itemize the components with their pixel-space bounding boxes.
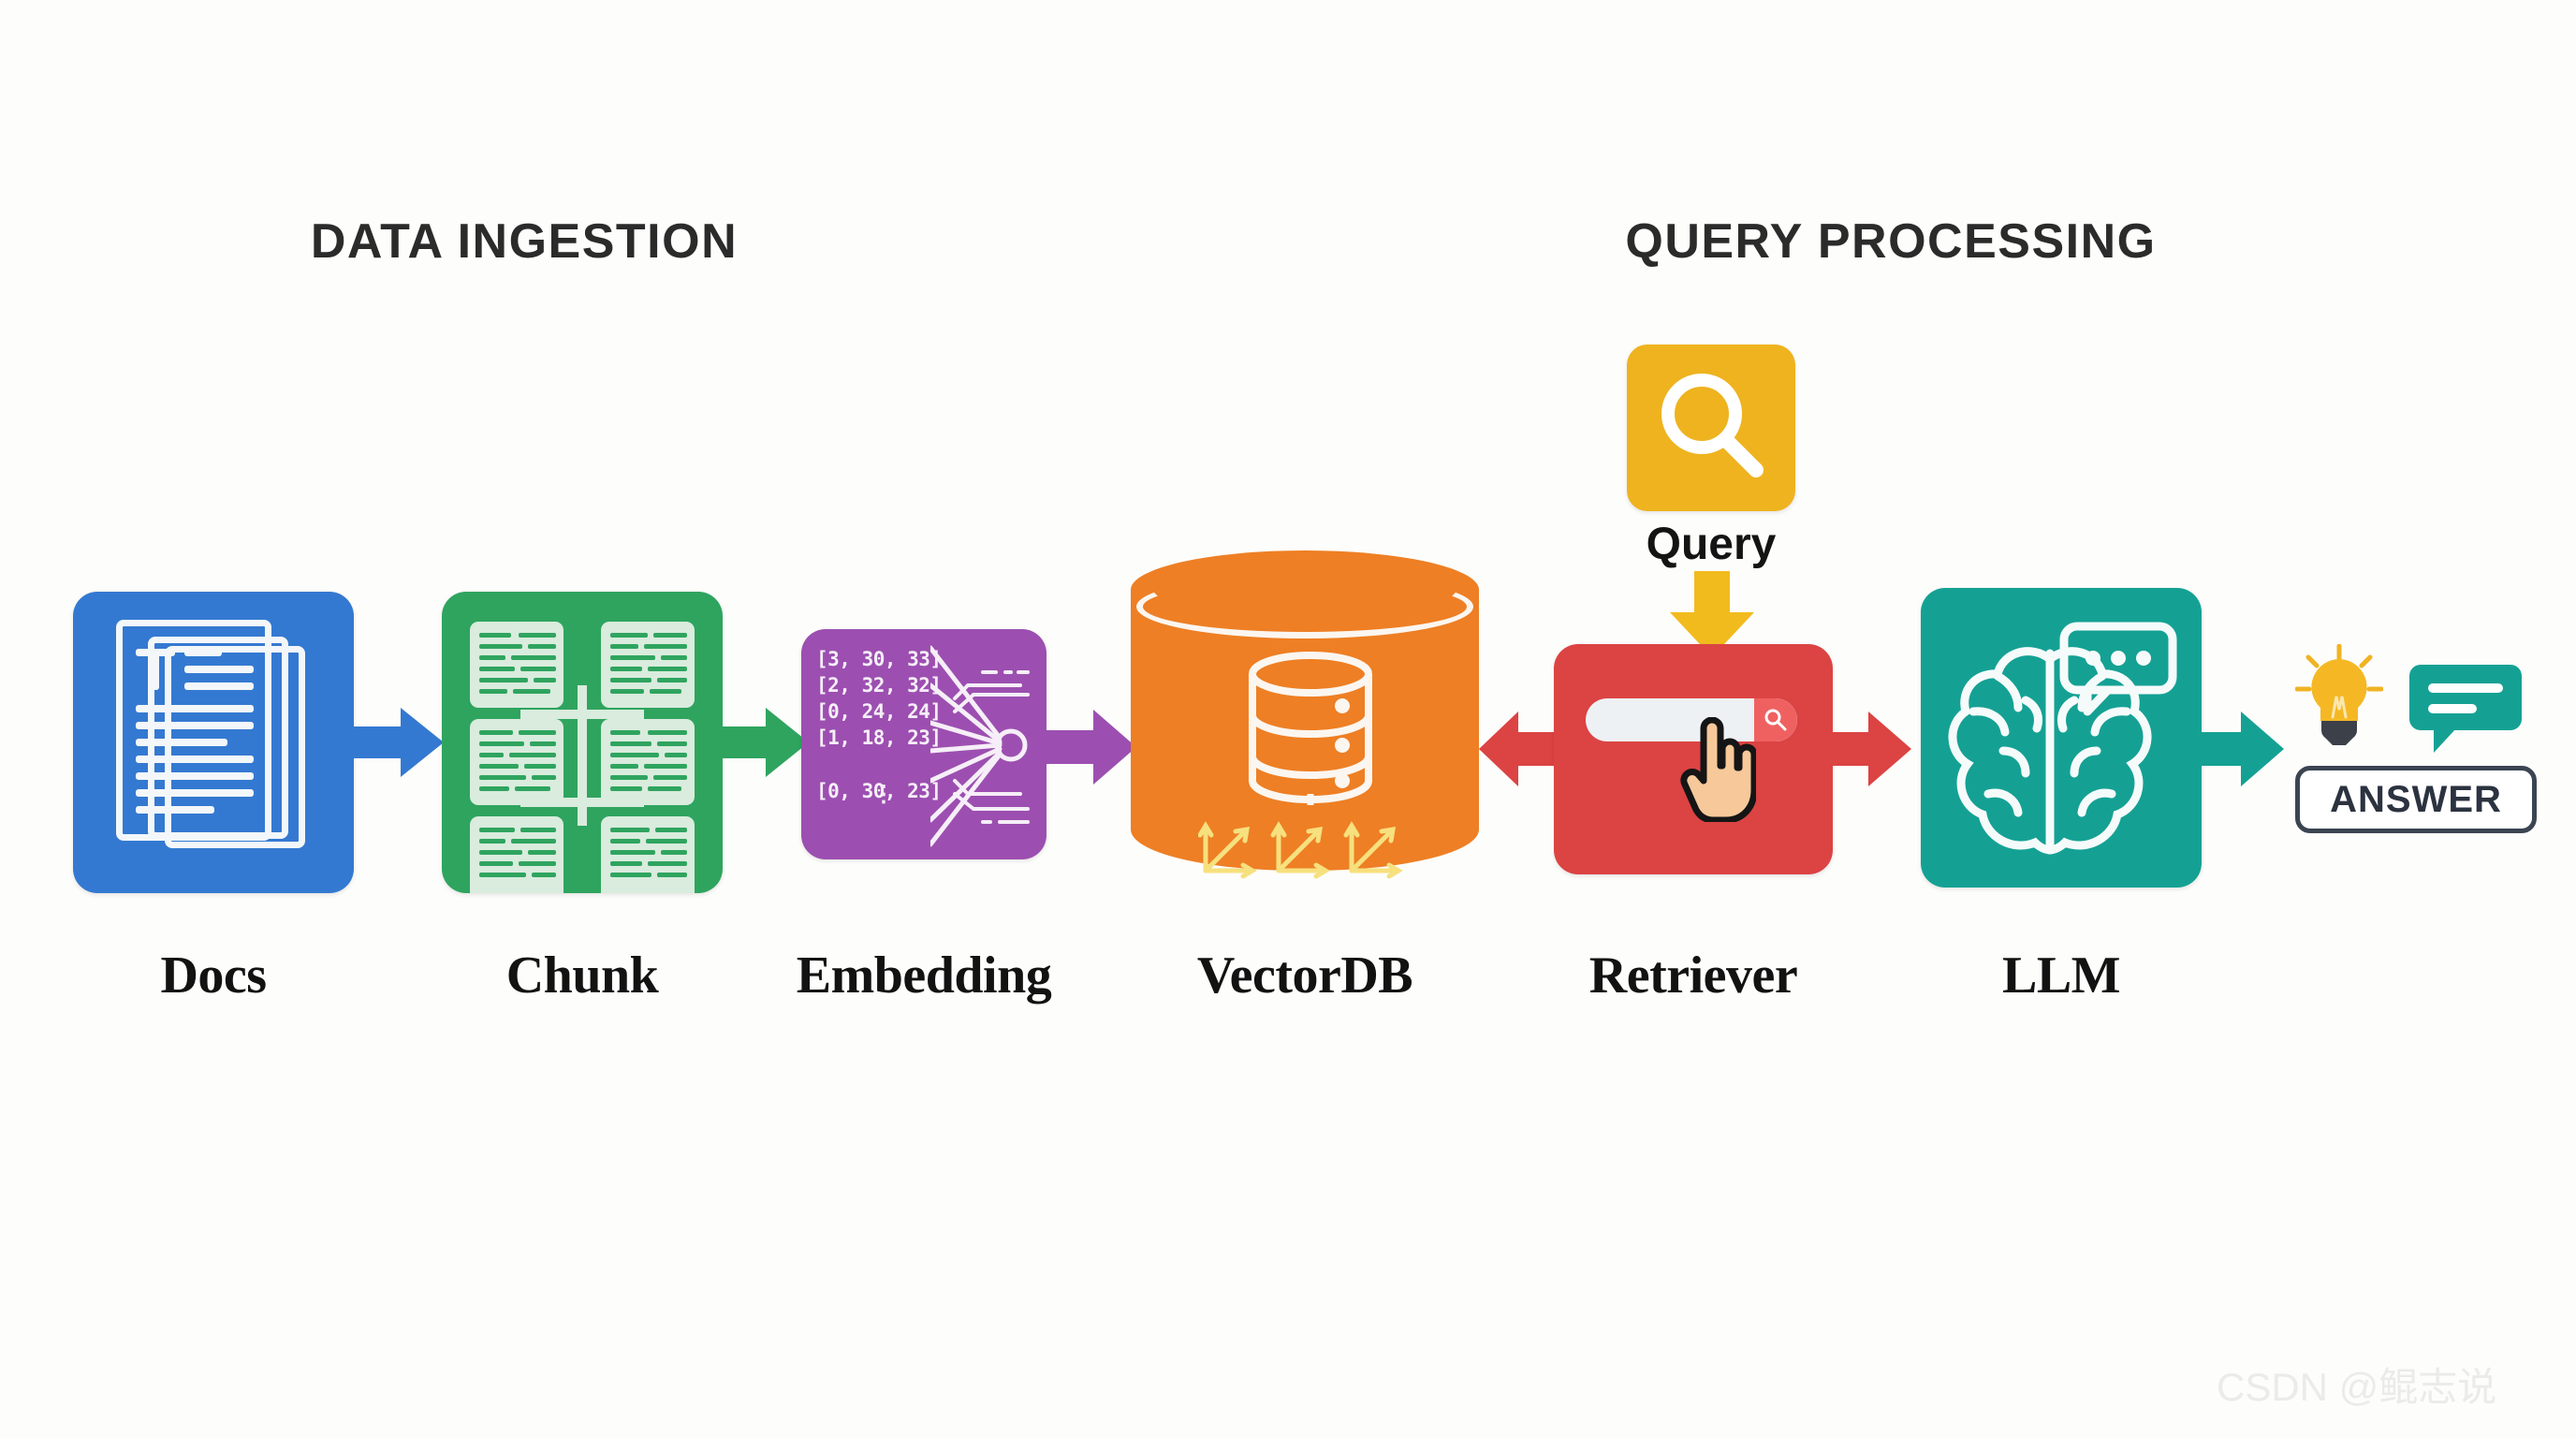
search-icon <box>1764 708 1788 732</box>
query-tile[interactable] <box>1627 345 1795 511</box>
arrow-vectordb-retriever <box>1479 708 1565 790</box>
answer-badge: ANSWER <box>2295 766 2537 833</box>
diagram-canvas: DATA INGESTION QUERY PROCESSING <box>0 0 2576 1438</box>
chunk-tile <box>470 816 563 893</box>
document-text-line <box>184 682 254 690</box>
document-sheet-front <box>116 620 271 841</box>
section-title-data-ingestion: DATA INGESTION <box>243 213 805 270</box>
chunk-tile <box>470 719 563 805</box>
stage-card-embedding[interactable]: [3, 30, 33] [2, 32, 32] [0, 24, 24] [1, … <box>801 629 1046 859</box>
chunk-tile <box>470 622 563 708</box>
document-text-line <box>136 789 254 797</box>
stage-label-vectordb: VectorDB <box>1131 946 1479 1005</box>
chunk-tile <box>601 816 695 893</box>
stage-card-chunk[interactable] <box>442 592 723 893</box>
vector-axes-icons <box>1198 813 1413 880</box>
stage-label-docs: Docs <box>73 946 354 1005</box>
stage-card-docs[interactable] <box>73 592 354 893</box>
pointer-hand-cursor-icon <box>1676 717 1756 822</box>
embedding-ellipsis: ⋮ <box>872 781 895 808</box>
stage-card-llm[interactable] <box>1921 588 2202 888</box>
chunk-tile <box>601 719 695 805</box>
stage-card-vectordb[interactable] <box>1131 550 1479 904</box>
arrow-embedding-to-vectordb <box>1046 704 1136 790</box>
search-submit-button[interactable] <box>1754 698 1797 741</box>
stage-label-llm: LLM <box>1921 946 2202 1005</box>
document-text-line <box>136 756 254 763</box>
section-title-query-processing: QUERY PROCESSING <box>1582 213 2200 270</box>
document-text-line <box>136 722 254 729</box>
speech-bubble-dots-icon <box>2059 622 2177 717</box>
chunk-connector <box>578 685 587 826</box>
document-text-line <box>136 739 227 746</box>
document-letter-t-stem <box>152 649 159 690</box>
arrow-retriever-to-llm <box>1823 708 1911 790</box>
answer-badge-label: ANSWER <box>2330 779 2502 821</box>
document-text-line <box>136 772 254 780</box>
magnifier-icon <box>1651 367 1771 489</box>
database-stack-icon <box>1245 652 1376 805</box>
arrow-llm-to-answer <box>2198 708 2284 790</box>
arrow-docs-to-chunk <box>354 700 444 785</box>
query-label: Query <box>1591 519 1831 570</box>
lightbulb-icon <box>2295 644 2383 747</box>
speech-bubble-icon <box>2408 663 2524 755</box>
stage-label-chunk: Chunk <box>442 946 723 1005</box>
neural-node-icon <box>930 640 1046 848</box>
arrow-chunk-to-embedding <box>723 700 809 785</box>
document-text-line <box>184 649 222 656</box>
watermark: CSDN @鲲志说 <box>2217 1356 2496 1413</box>
stage-label-embedding: Embedding <box>773 946 1075 1005</box>
document-text-line <box>184 666 254 673</box>
stage-card-retriever[interactable] <box>1554 644 1833 874</box>
cylinder-rim <box>1136 575 1473 638</box>
document-text-line <box>136 705 254 712</box>
document-text-line <box>136 806 214 814</box>
chunk-tile <box>601 622 695 708</box>
stage-label-retriever: Retriever <box>1544 946 1842 1005</box>
